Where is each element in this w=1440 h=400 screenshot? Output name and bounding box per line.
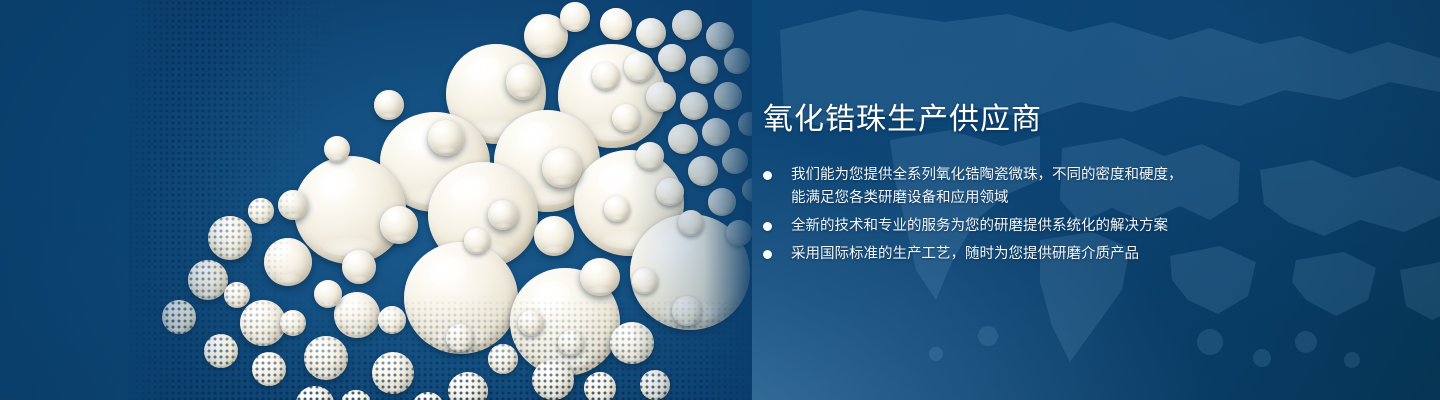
bead-small <box>702 118 730 146</box>
bead-medium <box>610 322 654 364</box>
banner-copy: 氧化锆珠生产供应商 我们能为您提供全系列氧化锆陶瓷微珠，不同的密度和硬度， 能满… <box>763 104 1233 271</box>
bead-medium <box>488 200 518 230</box>
bead-small <box>204 334 238 368</box>
bead-small <box>646 82 676 112</box>
bead-small <box>518 310 544 336</box>
bead-small <box>488 344 518 374</box>
bead-medium <box>542 148 582 188</box>
list-item-line: 全新的技术和专业的服务为您的研磨提供系统化的解决方案 <box>791 215 1233 238</box>
zirconia-bead-cluster-photo <box>128 0 752 400</box>
bullet-dot-icon <box>763 250 772 259</box>
bead-small <box>248 198 274 224</box>
bead-small <box>464 228 490 254</box>
bead-small <box>656 178 684 206</box>
list-item-line: 我们能为您提供全系列氧化锆陶瓷微珠，不同的密度和硬度， <box>791 164 1233 187</box>
bead-small <box>600 8 632 40</box>
bead-small <box>726 220 752 246</box>
bead-small <box>224 282 250 308</box>
bead-medium <box>532 360 574 400</box>
bead-small <box>722 148 748 174</box>
page-title: 氧化锆珠生产供应商 <box>763 104 1233 136</box>
bead-small <box>742 178 752 202</box>
bead-small <box>708 188 736 216</box>
bead-medium <box>304 336 348 380</box>
bead-small <box>604 196 630 222</box>
bead-small <box>680 92 708 120</box>
bead-small <box>636 142 664 170</box>
bead-medium <box>534 216 574 256</box>
bead-small <box>672 10 702 40</box>
list-item: 我们能为您提供全系列氧化锆陶瓷微珠，不同的密度和硬度， 能满足您各类研磨设备和应… <box>763 164 1233 210</box>
bead-small <box>340 390 372 400</box>
bead-small <box>560 2 590 32</box>
bead-small <box>558 330 584 356</box>
bead-small <box>314 280 342 308</box>
list-item: 全新的技术和专业的服务为您的研磨提供系统化的解决方案 <box>763 215 1233 238</box>
bead-medium <box>372 352 414 394</box>
bead-small <box>688 156 718 186</box>
bead-small <box>162 300 196 334</box>
bead-small <box>724 48 750 74</box>
bead-medium <box>428 120 464 156</box>
bead-small <box>324 136 350 162</box>
bead-small <box>612 104 640 132</box>
bead-small <box>252 352 286 386</box>
bead-medium <box>380 206 418 244</box>
bead-small <box>280 310 306 336</box>
bullet-dot-icon <box>763 171 772 180</box>
bead-small <box>632 268 658 294</box>
bead-medium <box>278 190 308 220</box>
bead-medium <box>296 386 334 400</box>
bead-small <box>672 296 702 326</box>
bead-small <box>592 62 620 90</box>
bead-small <box>640 370 670 400</box>
photo-backdrop <box>128 0 752 400</box>
bead-medium <box>374 90 404 120</box>
bead-medium <box>580 258 620 296</box>
bead-small <box>714 82 742 110</box>
bead-small <box>668 124 698 154</box>
bead-medium <box>188 260 228 300</box>
bead-medium <box>342 250 376 284</box>
bead-small <box>658 44 686 72</box>
list-item-line: 采用国际标准的生产工艺，随时为您提供研磨介质产品 <box>791 243 1233 266</box>
bullet-dot-icon <box>763 222 772 231</box>
bead-small <box>690 56 718 84</box>
bead-small <box>706 22 734 50</box>
hero-banner: 氧化锆珠生产供应商 我们能为您提供全系列氧化锆陶瓷微珠，不同的密度和硬度， 能满… <box>0 0 1440 400</box>
list-item-line: 能满足您各类研磨设备和应用领域 <box>791 187 1233 210</box>
bead-medium <box>264 238 312 286</box>
feature-list: 我们能为您提供全系列氧化锆陶瓷微珠，不同的密度和硬度， 能满足您各类研磨设备和应… <box>763 164 1233 266</box>
bead-small <box>378 306 406 334</box>
bead-medium <box>506 64 540 100</box>
bead-small <box>412 392 444 400</box>
bead-small <box>624 52 654 82</box>
bead-small <box>584 372 616 400</box>
bead-small <box>678 210 704 236</box>
bead-small <box>738 112 752 136</box>
bead-small <box>636 18 666 48</box>
bead-medium <box>448 372 488 400</box>
bead-medium <box>208 216 252 260</box>
list-item: 采用国际标准的生产工艺，随时为您提供研磨介质产品 <box>763 243 1233 266</box>
bead-small <box>446 324 474 352</box>
